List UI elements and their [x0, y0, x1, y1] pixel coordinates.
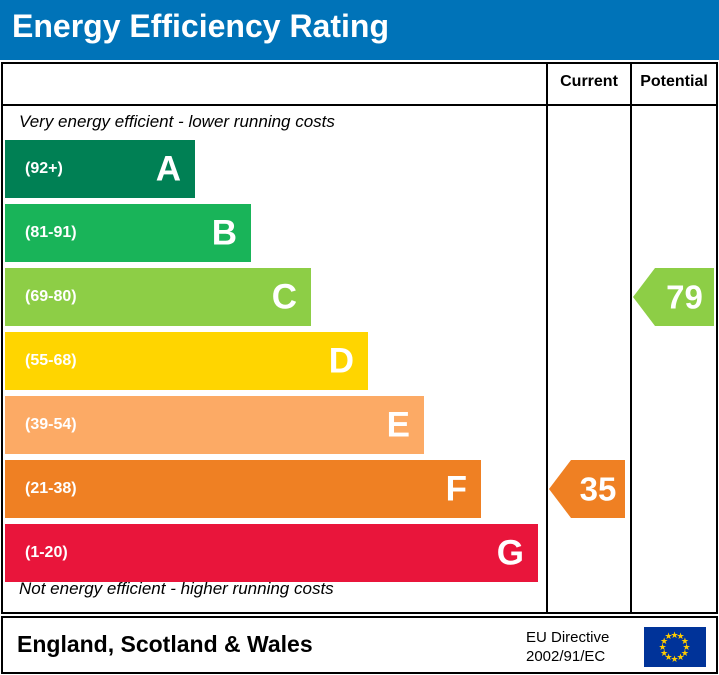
page-title: Energy Efficiency Rating: [12, 8, 389, 45]
potential-pointer-arrow: [633, 268, 655, 326]
band-range-b: (81-91): [25, 224, 77, 242]
band-bar-b: (81-91) B: [5, 204, 251, 262]
header-divider: [3, 104, 716, 106]
band-bar-d: (55-68) D: [5, 332, 368, 390]
current-pointer-body: 35: [571, 460, 625, 518]
band-letter-e: E: [387, 408, 410, 443]
eu-flag-icon: ★★★★★★★★★★★★: [644, 627, 706, 667]
current-column-divider: [546, 64, 548, 612]
band-range-c: (69-80): [25, 288, 77, 306]
eu-flag-star: ★: [665, 632, 673, 641]
band-letter-b: B: [212, 216, 237, 251]
eu-directive-text: EU Directive 2002/91/EC: [526, 628, 609, 666]
potential-pointer-body: 79: [655, 268, 714, 326]
band-bar-e: (39-54) E: [5, 396, 424, 454]
rating-chart: Current Potential Very energy efficient …: [1, 62, 718, 614]
band-range-e: (39-54): [25, 416, 77, 434]
title-bar: Energy Efficiency Rating: [0, 0, 719, 60]
band-bar-g: (1-20) G: [5, 524, 538, 582]
band-range-a: (92+): [25, 160, 63, 178]
band-range-d: (55-68): [25, 352, 77, 370]
band-bar-f: (21-38) F: [5, 460, 481, 518]
note-efficient: Very energy efficient - lower running co…: [19, 112, 335, 132]
note-inefficient: Not energy efficient - higher running co…: [19, 579, 334, 599]
band-range-g: (1-20): [25, 544, 68, 562]
band-range-f: (21-38): [25, 480, 77, 498]
current-rating-pointer: 35: [549, 460, 625, 518]
eu-directive-line2: 2002/91/EC: [526, 647, 609, 666]
epc-certificate: Energy Efficiency Rating Current Potenti…: [0, 0, 719, 675]
band-bar-c: (69-80) C: [5, 268, 311, 326]
footer-bar: England, Scotland & Wales EU Directive 2…: [1, 616, 718, 674]
potential-column-header: Potential: [632, 73, 716, 91]
region-label: England, Scotland & Wales: [17, 631, 313, 658]
band-letter-g: G: [497, 536, 524, 571]
band-letter-a: A: [156, 152, 181, 187]
band-letter-d: D: [329, 344, 354, 379]
potential-rating-pointer: 79: [633, 268, 714, 326]
current-column-header: Current: [548, 73, 630, 91]
current-pointer-arrow: [549, 460, 571, 518]
eu-directive-line1: EU Directive: [526, 628, 609, 647]
potential-rating-value: 79: [655, 281, 714, 314]
band-letter-c: C: [272, 280, 297, 315]
band-letter-f: F: [446, 472, 467, 507]
current-rating-value: 35: [571, 473, 625, 506]
potential-column-divider: [630, 64, 632, 612]
band-bar-a: (92+) A: [5, 140, 195, 198]
